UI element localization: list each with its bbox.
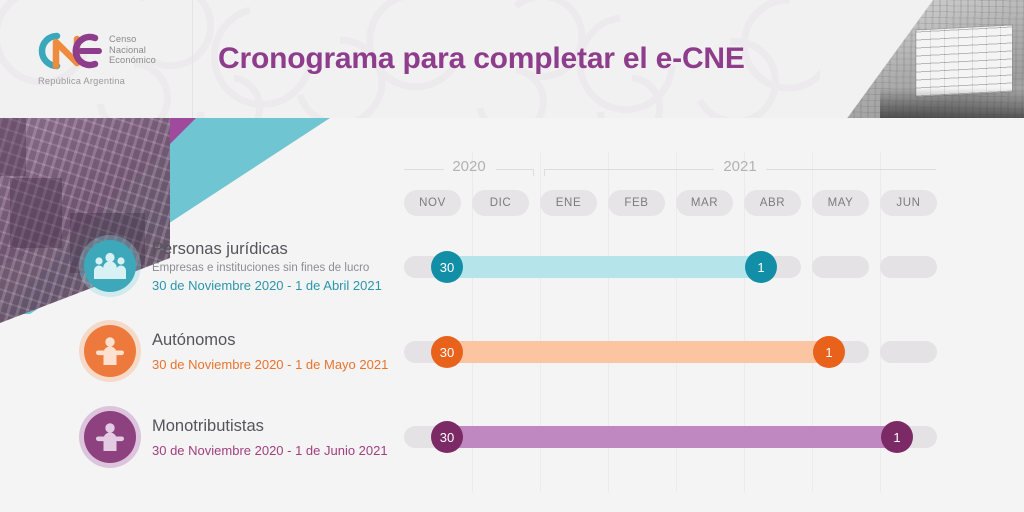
row-track-personas-juridicas (880, 256, 937, 278)
row-icon-monotributistas (84, 411, 136, 463)
year-rule-right (496, 169, 534, 170)
knob-label: 1 (757, 260, 764, 275)
year-rule-right (766, 169, 936, 170)
row-subtitle: Empresas e instituciones sin fines de lu… (152, 262, 382, 274)
row-track-autonomos (880, 341, 937, 363)
row-dates: 30 de Noviembre 2020 - 1 de Junio 2021 (152, 443, 388, 458)
row-fill-monotributistas (433, 426, 907, 448)
month-pill-mar[interactable]: MAR (676, 190, 733, 216)
row-icon-ring (79, 320, 141, 382)
row-dates: 30 de Noviembre 2020 - 1 de Abril 2021 (152, 278, 382, 293)
row-texts: Monotributistas 30 de Noviembre 2020 - 1… (152, 417, 388, 458)
year-tick-start (544, 169, 545, 176)
row-title: Autónomos (152, 331, 388, 350)
row-icon-ring (79, 235, 141, 297)
row-dates: 30 de Noviembre 2020 - 1 de Mayo 2021 (152, 357, 388, 372)
row-start-knob-personas-juridicas[interactable]: 30 (431, 251, 463, 283)
row-icon-ring (79, 406, 141, 468)
month-pill-nov[interactable]: NOV (404, 190, 461, 216)
infographic-root: Censo Nacional Económico República Argen… (0, 0, 1024, 512)
year-tick-end (533, 169, 534, 176)
row-end-knob-monotributistas[interactable]: 1 (881, 421, 913, 453)
row-icon-personas-juridicas (84, 240, 136, 292)
row-end-knob-autonomos[interactable]: 1 (813, 336, 845, 368)
year-rule-left (544, 169, 714, 170)
month-pill-may[interactable]: MAY (812, 190, 869, 216)
knob-label: 30 (440, 260, 454, 275)
row-fill-autonomos (433, 341, 839, 363)
row-title: Monotributistas (152, 417, 388, 436)
year-label: 2021 (723, 158, 756, 175)
knob-label: 1 (893, 430, 900, 445)
row-track-personas-juridicas (812, 256, 869, 278)
year-rule-left (404, 169, 444, 170)
knob-label: 1 (825, 345, 832, 360)
month-pill-dic[interactable]: DIC (472, 190, 529, 216)
row-end-knob-personas-juridicas[interactable]: 1 (745, 251, 777, 283)
row-fill-personas-juridicas (433, 256, 771, 278)
timeline: 2020 2021 NOV DIC ENE FEB MAR ABR MAY JU… (0, 0, 1024, 512)
month-pill-jun[interactable]: JUN (880, 190, 937, 216)
row-texts: Personas jurídicas Empresas e institucio… (152, 240, 382, 293)
month-pill-feb[interactable]: FEB (608, 190, 665, 216)
knob-label: 30 (440, 345, 454, 360)
knob-label: 30 (440, 430, 454, 445)
year-label: 2020 (452, 158, 485, 175)
row-start-knob-monotributistas[interactable]: 30 (431, 421, 463, 453)
row-texts: Autónomos 30 de Noviembre 2020 - 1 de Ma… (152, 331, 388, 372)
row-icon-autonomos (84, 325, 136, 377)
year-group-2021: 2021 (544, 158, 936, 178)
year-group-2020: 2020 (404, 158, 534, 178)
month-pill-abr[interactable]: ABR (744, 190, 801, 216)
month-pill-ene[interactable]: ENE (540, 190, 597, 216)
row-start-knob-autonomos[interactable]: 30 (431, 336, 463, 368)
row-title: Personas jurídicas (152, 240, 382, 259)
